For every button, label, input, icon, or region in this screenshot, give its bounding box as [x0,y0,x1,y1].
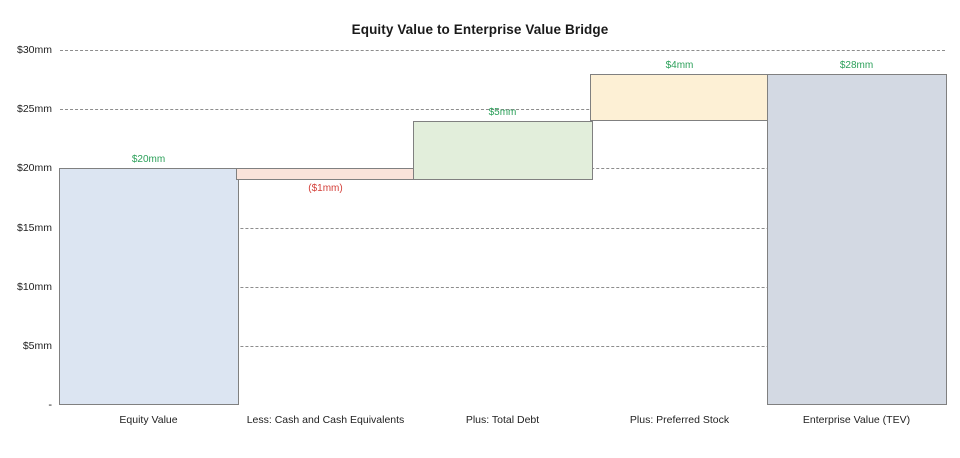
value-label: $28mm [840,60,873,71]
x-axis-tick-label: Less: Cash and Cash Equivalents [247,414,405,426]
waterfall-chart: Equity Value to Enterprise Value Bridge … [0,0,960,458]
bar-less-cash-and-cash-equivalents[interactable] [236,168,416,180]
plot-area [60,50,945,405]
x-axis-tick-label: Equity Value [119,414,177,426]
x-axis-tick-label: Plus: Total Debt [466,414,539,426]
y-axis-tick-label: $30mm [0,44,52,56]
chart-title: Equity Value to Enterprise Value Bridge [0,22,960,37]
y-axis-tick-label: $15mm [0,222,52,234]
y-axis-tick-label: $10mm [0,281,52,293]
bar-equity-value[interactable] [59,168,239,405]
value-label: $4mm [666,60,694,71]
bar-plus-total-debt[interactable] [413,121,593,180]
gridline [60,50,945,51]
y-axis-tick-label: $20mm [0,162,52,174]
y-axis-tick-label: $25mm [0,103,52,115]
value-label: $5mm [489,107,517,118]
y-axis-tick-label: - [0,399,52,411]
bar-plus-preferred-stock[interactable] [590,74,770,121]
y-axis-tick-label: $5mm [0,340,52,352]
x-axis-tick-label: Plus: Preferred Stock [630,414,729,426]
x-axis-tick-label: Enterprise Value (TEV) [803,414,910,426]
value-label: ($1mm) [308,183,342,194]
bar-enterprise-value-tev[interactable] [767,74,947,405]
value-label: $20mm [132,154,165,165]
